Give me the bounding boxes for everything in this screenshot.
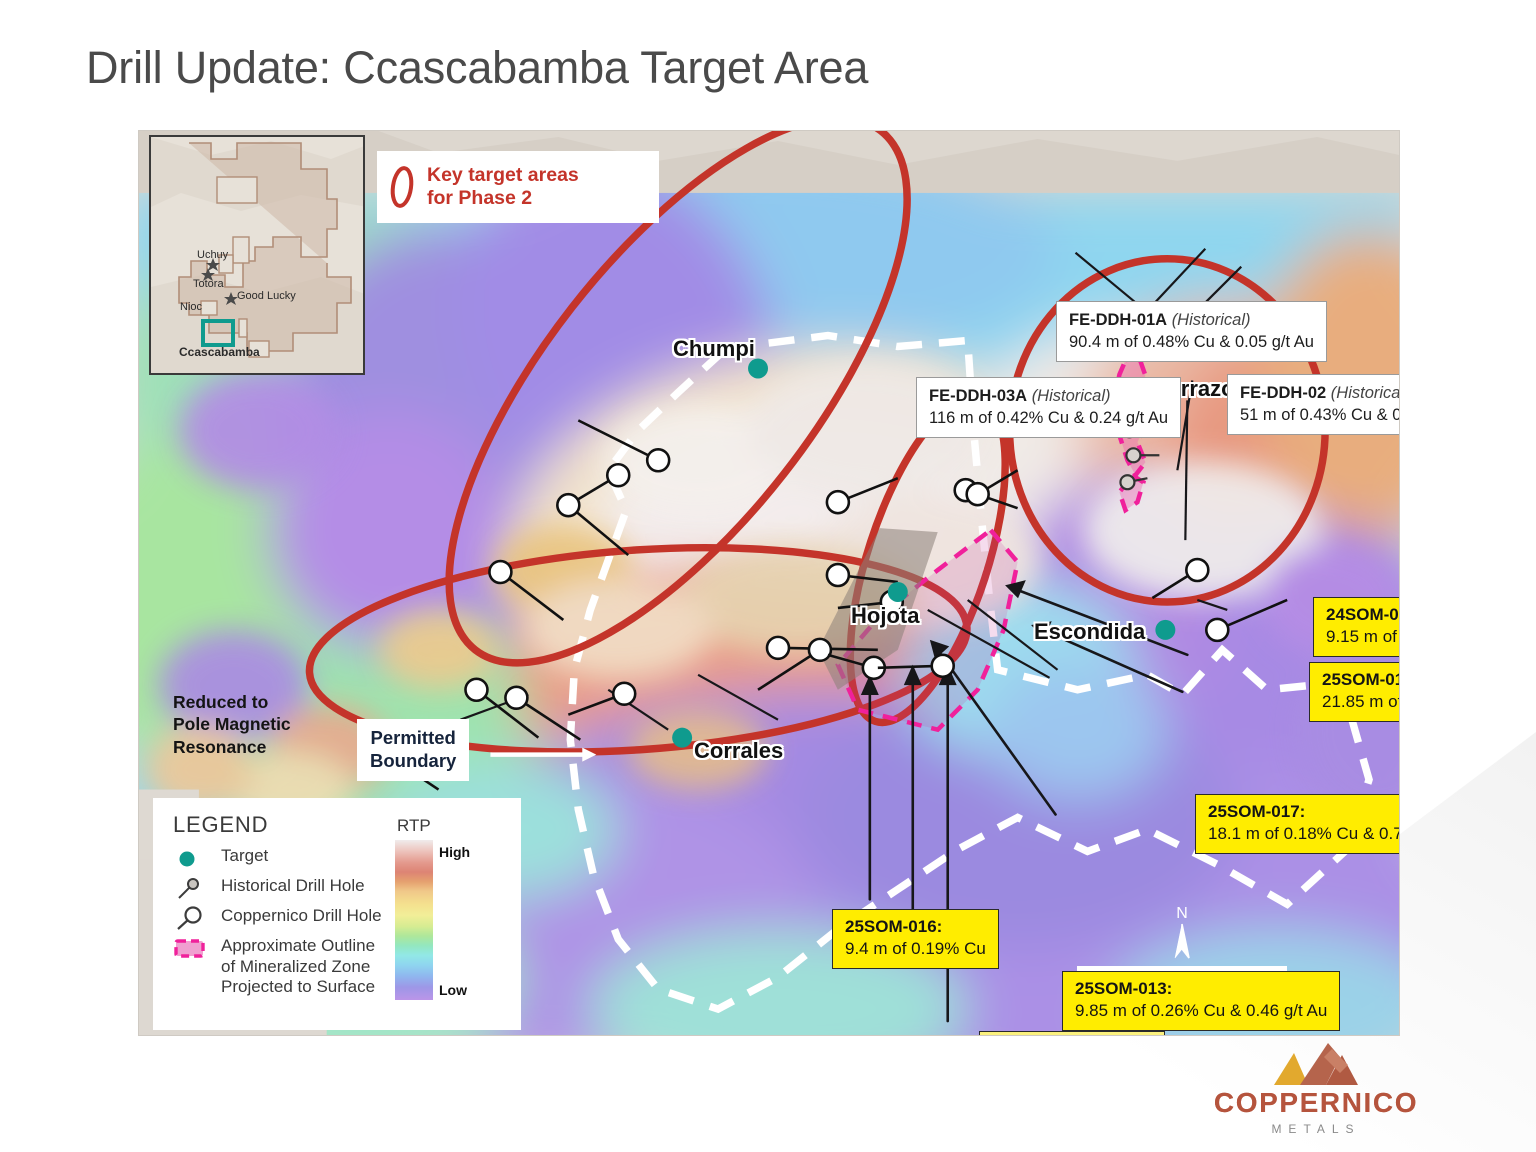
callout-24som-004[interactable]: 24SOM-004: 27.45 m of 0.21% Cu 9.4 m of … xyxy=(979,1031,1165,1036)
callout-qualifier: (Historical) xyxy=(1032,387,1111,405)
callout-25som-018[interactable]: 25SOM-018: 21.85 m of 0.22% Cu xyxy=(1309,662,1400,722)
mountain-logo-icon xyxy=(1256,1039,1376,1087)
callout-fe-ddh-01a[interactable]: FE-DDH-01A (Historical) 90.4 m of 0.48% … xyxy=(1056,301,1327,362)
callout-25som-016[interactable]: 25SOM-016: 9.4 m of 0.19% Cu xyxy=(832,909,999,969)
callout-result: 116 m of 0.42% Cu & 0.24 g/t Au xyxy=(929,407,1168,429)
callout-result: 18.1 m of 0.18% Cu & 0.7 g/t Au xyxy=(1208,823,1400,845)
callout-result: 9.4 m of 0.19% Cu xyxy=(845,938,986,960)
callout-result: 21.85 m of 0.22% Cu xyxy=(1322,691,1400,713)
callout-result: 9.85 m of 0.26% Cu & 0.46 g/t Au xyxy=(1075,1000,1327,1022)
rtp-colorbar-title: RTP xyxy=(397,816,507,836)
north-arrow-icon xyxy=(1171,922,1193,960)
legend-item-label: Historical Drill Hole xyxy=(221,876,365,897)
coppernico-logo: COPPERNICO METALS xyxy=(1186,1039,1446,1136)
callout-id: FE-DDH-01A xyxy=(1069,311,1167,329)
map-container[interactable]: Uchuy Totora Good Lucky Nioc Ccascabamba… xyxy=(138,130,1400,1036)
mineralized-zone-icon xyxy=(173,936,207,962)
callout-25som-013[interactable]: 25SOM-013: 9.85 m of 0.26% Cu & 0.46 g/t… xyxy=(1062,971,1340,1031)
legend-panel: LEGEND Target Historical Drill Hole xyxy=(153,798,521,1030)
legend-item-label: Coppernico Drill Hole xyxy=(221,906,382,927)
north-label: N xyxy=(1067,906,1297,922)
callout-id: 25SOM-013: xyxy=(1075,978,1327,1000)
callout-id: 25SOM-017: xyxy=(1208,801,1400,823)
coppernico-drill-icon xyxy=(173,906,207,932)
legend-item-label: Target xyxy=(221,846,268,867)
callout-result: 9.15 m of 0.21% Cu xyxy=(1326,626,1400,648)
logo-name: COPPERNICO xyxy=(1186,1089,1446,1117)
rtp-low-label: Low xyxy=(439,982,467,998)
permitted-boundary-label: Permitted Boundary xyxy=(357,719,469,781)
callout-id: FE-DDH-02 xyxy=(1240,384,1326,402)
callout-qualifier: (Historical) xyxy=(1331,384,1400,402)
target-dot-icon xyxy=(173,846,207,872)
rtp-high-label: High xyxy=(439,844,470,860)
callout-id: FE-DDH-03A xyxy=(929,387,1027,405)
rtp-colorbar-block: RTP High Low xyxy=(395,816,507,1000)
callout-id: 25SOM-016: xyxy=(845,916,986,938)
callout-id: 25SOM-018: xyxy=(1322,669,1400,691)
callout-fe-ddh-02[interactable]: FE-DDH-02 (Historical) 51 m of 0.43% Cu … xyxy=(1227,374,1400,435)
legend-item-label: Approximate Outline of Mineralized Zone … xyxy=(221,936,375,998)
callout-result: 90.4 m of 0.48% Cu & 0.05 g/t Au xyxy=(1069,331,1314,353)
callout-qualifier: (Historical) xyxy=(1172,311,1251,329)
callout-result: 51 m of 0.43% Cu & 0.16 g/t Au xyxy=(1240,404,1400,426)
page-title: Drill Update: Ccascabamba Target Area xyxy=(86,42,868,94)
callout-id: 24SOM-007: xyxy=(1326,604,1400,626)
logo-subtitle: METALS xyxy=(1186,1122,1446,1136)
callout-24som-007[interactable]: 24SOM-007: 9.15 m of 0.21% Cu xyxy=(1313,597,1400,657)
historical-drill-icon xyxy=(173,876,207,902)
rtp-colorbar xyxy=(395,840,433,1000)
callout-fe-ddh-03a[interactable]: FE-DDH-03A (Historical) 116 m of 0.42% C… xyxy=(916,377,1181,438)
callout-25som-017[interactable]: 25SOM-017: 18.1 m of 0.18% Cu & 0.7 g/t … xyxy=(1195,794,1400,854)
